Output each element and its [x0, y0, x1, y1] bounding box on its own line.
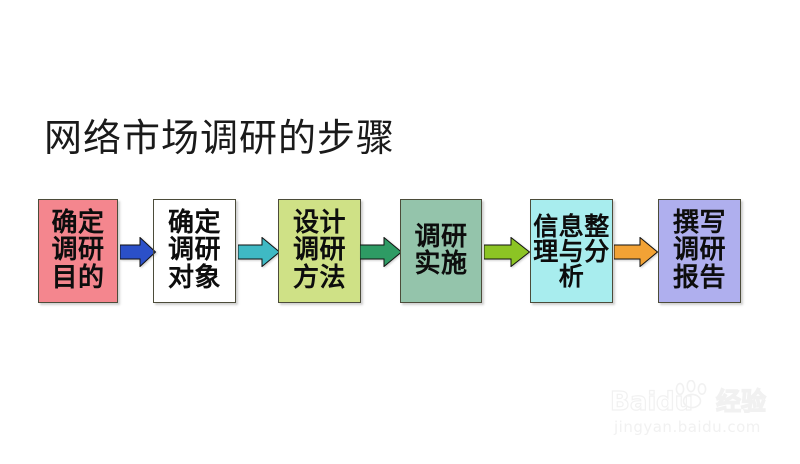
flow-connector-arrow-5: [614, 237, 658, 267]
flow-step-1-label: 确定 调研 目的: [51, 210, 104, 291]
flow-connector-arrow-3: [360, 237, 402, 267]
flow-step-6[interactable]: 撰写 调研 报告: [658, 199, 741, 303]
flow-step-2[interactable]: 确定 调研 对象: [153, 199, 236, 303]
flow-connector-arrow-2: [238, 237, 280, 267]
svg-text:du: du: [656, 387, 693, 417]
flow-step-4[interactable]: 调研 实施: [400, 199, 482, 303]
baidu-watermark: Bai du 经验 jingyan.baidu.com: [608, 380, 794, 442]
flow-step-3[interactable]: 设计 调研 方法: [278, 199, 361, 303]
flow-step-6-label: 撰写 调研 报告: [673, 210, 726, 291]
flow-step-1[interactable]: 确定 调研 目的: [38, 199, 118, 303]
flow-step-3-label: 设计 调研 方法: [293, 210, 346, 291]
watermark-url: jingyan.baidu.com: [614, 418, 761, 436]
page-title: 网络市场调研的步骤: [44, 114, 395, 162]
flow-step-5[interactable]: 信息整 理与分 析: [530, 199, 613, 303]
flow-step-4-label: 调研 实施: [414, 224, 467, 278]
process-flow-diagram: 确定 调研 目的 确定 调研 对象 设计 调研 方法 调研 实施 信息整: [0, 199, 800, 305]
baidu-jingyan-cn-text: 经验: [716, 387, 766, 416]
svg-text:Bai: Bai: [610, 387, 656, 417]
flow-connector-arrow-4: [484, 237, 530, 267]
baidu-logo-icon: Bai du 经验: [608, 380, 794, 418]
flow-connector-arrow-1: [120, 237, 156, 267]
flow-step-2-label: 确定 调研 对象: [168, 210, 221, 291]
flow-step-5-label: 信息整 理与分 析: [533, 214, 610, 289]
